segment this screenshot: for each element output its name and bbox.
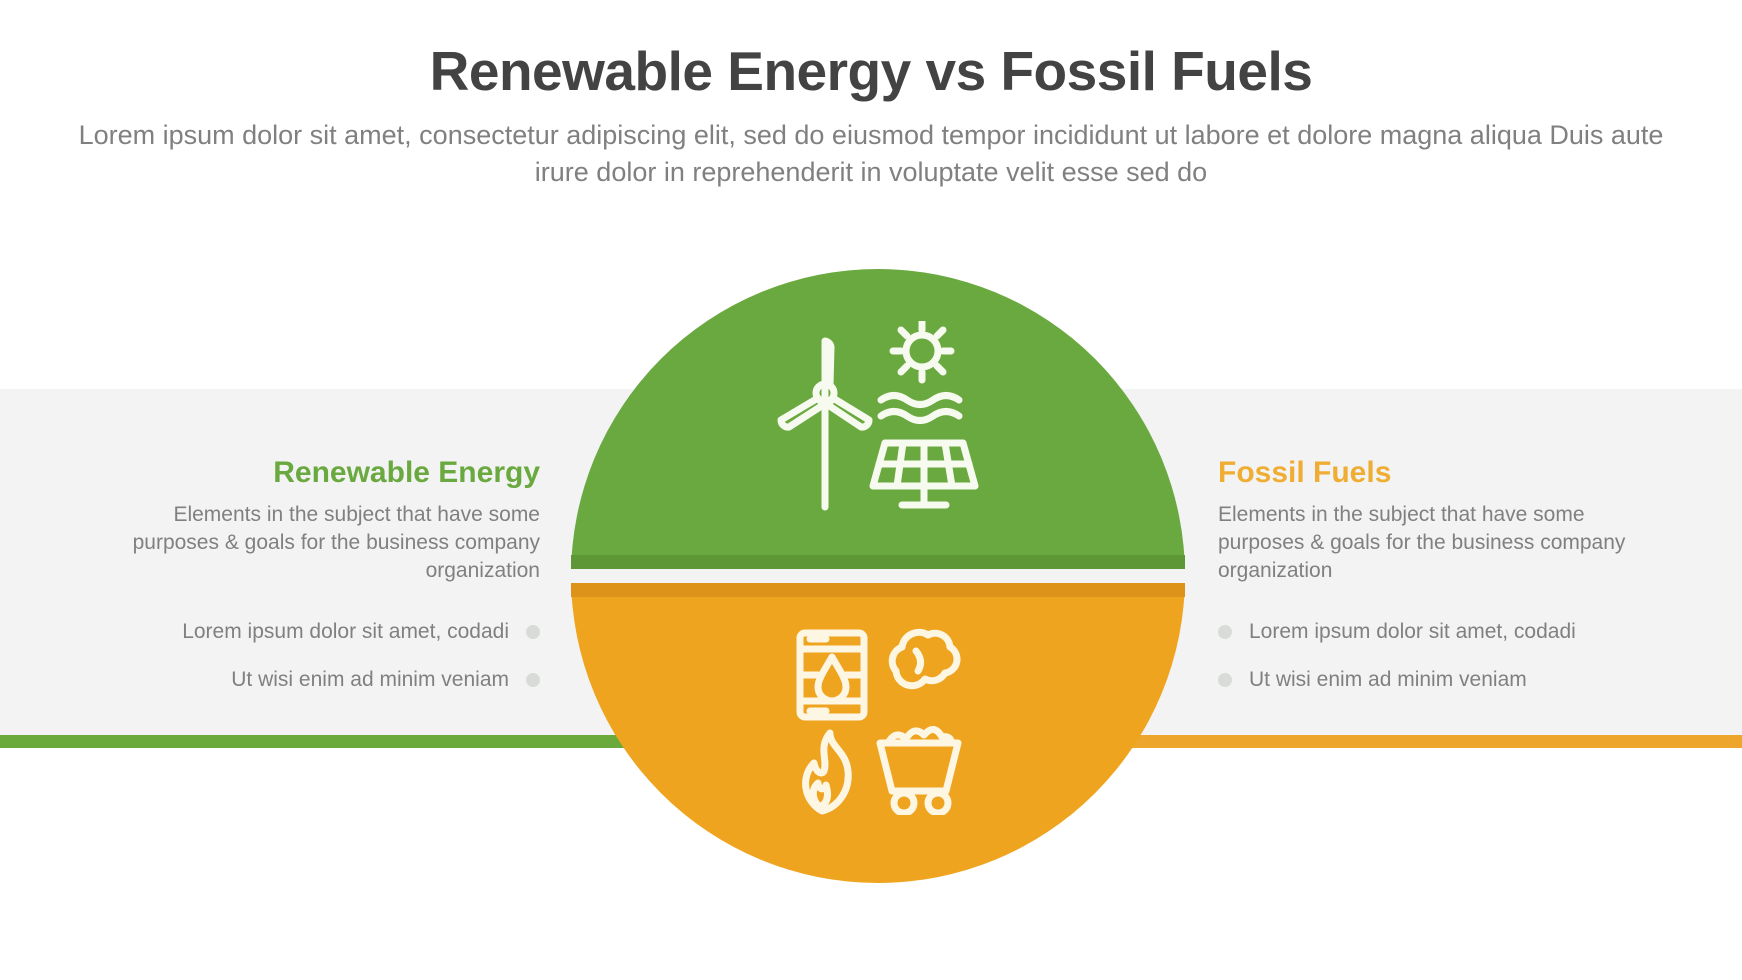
bullet-label: Ut wisi enim ad minim veniam <box>1249 667 1527 693</box>
accent-bar-fossil <box>1102 735 1742 748</box>
panel-fossil-description: Elements in the subject that have some p… <box>1218 501 1658 585</box>
bullet-dot-icon <box>1218 673 1232 687</box>
panel-renewable-bullet-list: Lorem ipsum dolor sit amet, codadi Ut wi… <box>100 619 540 694</box>
bullet-dot-icon <box>1218 625 1232 639</box>
list-item[interactable]: Ut wisi enim ad minim veniam <box>1218 667 1658 693</box>
bullet-label: Lorem ipsum dolor sit amet, codadi <box>1249 619 1576 645</box>
panel-renewable-heading: Renewable Energy <box>100 455 540 491</box>
panel-fossil-bullet-list: Lorem ipsum dolor sit amet, codadi Ut wi… <box>1218 619 1658 694</box>
header: Renewable Energy vs Fossil Fuels Lorem i… <box>0 0 1742 191</box>
list-item[interactable]: Ut wisi enim ad minim veniam <box>100 667 540 693</box>
split-circle-graphic <box>571 269 1185 883</box>
bullet-dot-icon <box>526 625 540 639</box>
panel-renewable-description: Elements in the subject that have some p… <box>100 501 540 585</box>
bullet-dot-icon <box>526 673 540 687</box>
circle-half-renewable-edge <box>571 555 1185 569</box>
page-title: Renewable Energy vs Fossil Fuels <box>0 0 1742 101</box>
accent-bar-renewable <box>0 735 640 748</box>
circle-half-fossil-edge <box>571 583 1185 597</box>
circle-half-renewable[interactable] <box>571 269 1185 569</box>
bullet-label: Lorem ipsum dolor sit amet, codadi <box>182 619 509 645</box>
panel-renewable: Renewable Energy Elements in the subject… <box>100 455 540 715</box>
list-item[interactable]: Lorem ipsum dolor sit amet, codadi <box>1218 619 1658 645</box>
renewable-energy-icon <box>773 321 983 516</box>
panel-fossil-heading: Fossil Fuels <box>1218 455 1658 491</box>
page-subtitle: Lorem ipsum dolor sit amet, consectetur … <box>66 101 1676 191</box>
panel-fossil: Fossil Fuels Elements in the subject tha… <box>1218 455 1658 715</box>
circle-half-fossil[interactable] <box>571 583 1185 883</box>
list-item[interactable]: Lorem ipsum dolor sit amet, codadi <box>100 619 540 645</box>
bullet-label: Ut wisi enim ad minim veniam <box>231 667 509 693</box>
fossil-fuels-icon <box>788 625 968 820</box>
